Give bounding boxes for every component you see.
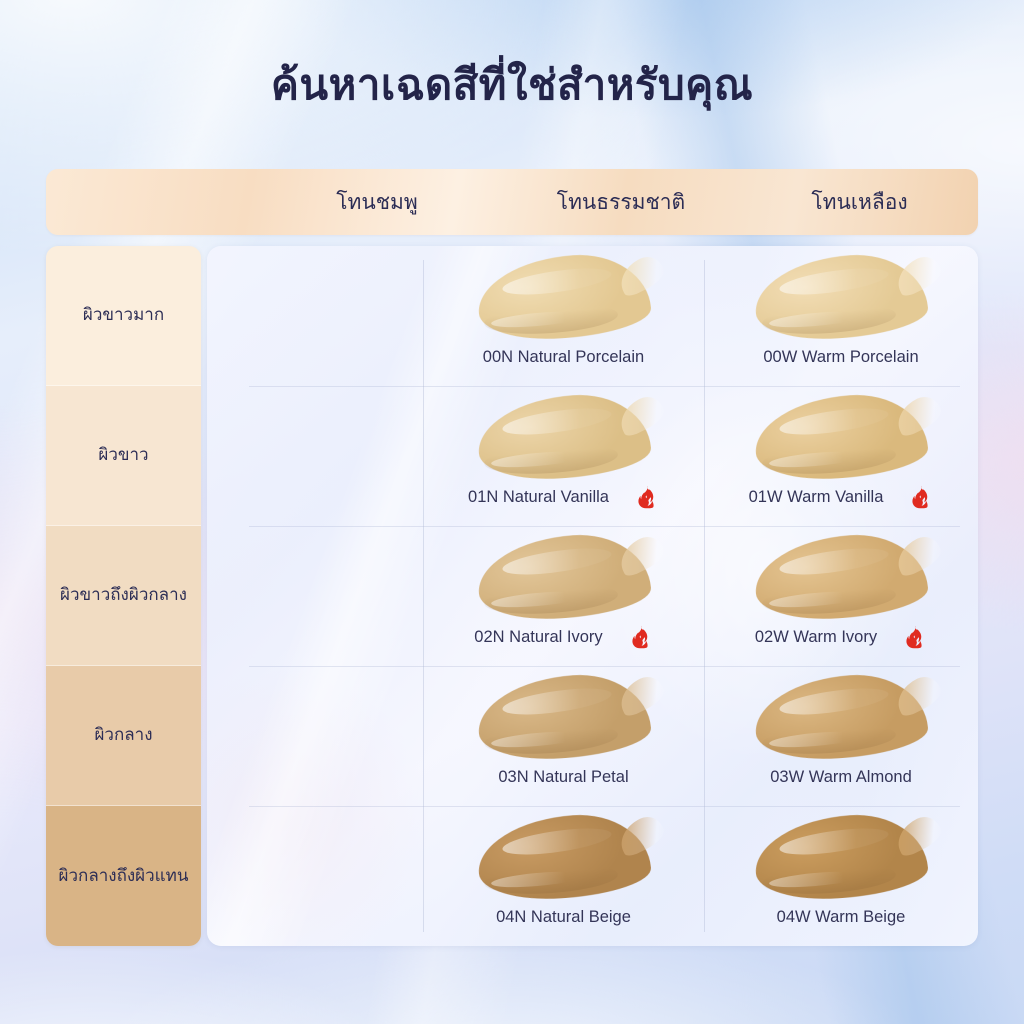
shade-name: 02N Natural Ivory: [474, 628, 602, 647]
shade-grid: 00N Natural Porcelain00W Warm Porcelain0…: [207, 246, 978, 946]
shade-name: 00W Warm Porcelain: [763, 348, 918, 367]
swatch-blob: [475, 670, 652, 764]
swatch-blob: [752, 390, 929, 484]
flame-icon: [901, 624, 927, 650]
shade-cell-04W[interactable]: 04W Warm Beige: [704, 806, 978, 946]
flame-icon: [627, 624, 653, 650]
shade-label-row: 01W Warm Vanilla: [704, 482, 978, 512]
shade-cell-03N[interactable]: 03N Natural Petal: [423, 666, 704, 806]
column-header-warm: โทนเหลือง: [741, 169, 978, 235]
shade-label-row: 04W Warm Beige: [704, 902, 978, 932]
shade-name: 04W Warm Beige: [777, 908, 906, 927]
column-header-natural: โทนธรรมชาติ: [501, 169, 741, 235]
shade-name: 01N Natural Vanilla: [468, 488, 609, 507]
shade-cell-03W[interactable]: 03W Warm Almond: [704, 666, 978, 806]
sidebar-item-label: ผิวกลางถึงผิวแทน: [59, 864, 189, 889]
swatch-blob: [752, 250, 929, 344]
shade-label-row: 00N Natural Porcelain: [423, 342, 704, 372]
sidebar-item-label: ผิวขาว: [98, 443, 148, 468]
foundation-swatch: [478, 396, 650, 478]
swatch-container: [704, 674, 978, 760]
swatch-container: [423, 394, 704, 480]
swatch-blob: [475, 250, 652, 344]
shade-label-row: 04N Natural Beige: [423, 902, 704, 932]
shade-label-row: 03N Natural Petal: [423, 762, 704, 792]
shade-label-row: 02W Warm Ivory: [704, 622, 978, 652]
column-header-band: โทนชมพู โทนธรรมชาติ โทนเหลือง: [46, 169, 978, 235]
sidebar-item-5[interactable]: ผิวกลางถึงผิวแทน: [46, 806, 201, 946]
sidebar-item-label: ผิวขาวมาก: [83, 303, 164, 328]
swatch-blob: [752, 670, 929, 764]
swatch-container: [704, 254, 978, 340]
swatch-blob: [752, 530, 929, 624]
foundation-swatch: [755, 396, 927, 478]
swatch-container: [704, 534, 978, 620]
page-title: ค้นหาเฉดสีที่ใช่สำหรับคุณ: [0, 58, 1024, 113]
skin-tone-sidebar: ผิวขาวมากผิวขาวผิวขาวถึงผิวกลางผิวกลางผิ…: [46, 246, 201, 946]
shade-name: 03W Warm Almond: [770, 768, 912, 787]
sidebar-item-2[interactable]: ผิวขาว: [46, 386, 201, 526]
shade-name: 01W Warm Vanilla: [749, 488, 884, 507]
column-header-pink: โทนชมพู: [253, 169, 501, 235]
swatch-container: [423, 674, 704, 760]
swatch-blob: [475, 810, 652, 904]
swatch-container: [704, 394, 978, 480]
foundation-swatch: [755, 676, 927, 758]
shade-cell-00W[interactable]: 00W Warm Porcelain: [704, 246, 978, 386]
swatch-container: [704, 814, 978, 900]
shade-label-row: 02N Natural Ivory: [423, 622, 704, 652]
shade-label-row: 03W Warm Almond: [704, 762, 978, 792]
shade-cell-01W[interactable]: 01W Warm Vanilla: [704, 386, 978, 526]
shade-name: 03N Natural Petal: [498, 768, 628, 787]
foundation-swatch: [478, 256, 650, 338]
swatch-blob: [752, 810, 929, 904]
foundation-swatch: [478, 816, 650, 898]
flame-icon: [907, 484, 933, 510]
swatch-blob: [475, 530, 652, 624]
foundation-swatch: [755, 536, 927, 618]
shade-name: 00N Natural Porcelain: [483, 348, 644, 367]
sidebar-item-3[interactable]: ผิวขาวถึงผิวกลาง: [46, 526, 201, 666]
flame-icon: [633, 484, 659, 510]
foundation-swatch: [478, 676, 650, 758]
shade-label-row: 01N Natural Vanilla: [423, 482, 704, 512]
sidebar-item-4[interactable]: ผิวกลาง: [46, 666, 201, 806]
shade-label-row: 00W Warm Porcelain: [704, 342, 978, 372]
foundation-swatch: [755, 256, 927, 338]
shade-cell-01N[interactable]: 01N Natural Vanilla: [423, 386, 704, 526]
foundation-swatch: [478, 536, 650, 618]
sidebar-item-label: ผิวขาวถึงผิวกลาง: [60, 583, 187, 608]
shade-name: 04N Natural Beige: [496, 908, 631, 927]
swatch-container: [423, 254, 704, 340]
sidebar-item-label: ผิวกลาง: [94, 723, 152, 748]
foundation-swatch: [755, 816, 927, 898]
shade-cell-00N[interactable]: 00N Natural Porcelain: [423, 246, 704, 386]
swatch-container: [423, 814, 704, 900]
shade-name: 02W Warm Ivory: [755, 628, 877, 647]
shade-cell-02N[interactable]: 02N Natural Ivory: [423, 526, 704, 666]
shade-cell-02W[interactable]: 02W Warm Ivory: [704, 526, 978, 666]
shade-cell-04N[interactable]: 04N Natural Beige: [423, 806, 704, 946]
swatch-blob: [475, 390, 652, 484]
sidebar-item-1[interactable]: ผิวขาวมาก: [46, 246, 201, 386]
swatch-container: [423, 534, 704, 620]
